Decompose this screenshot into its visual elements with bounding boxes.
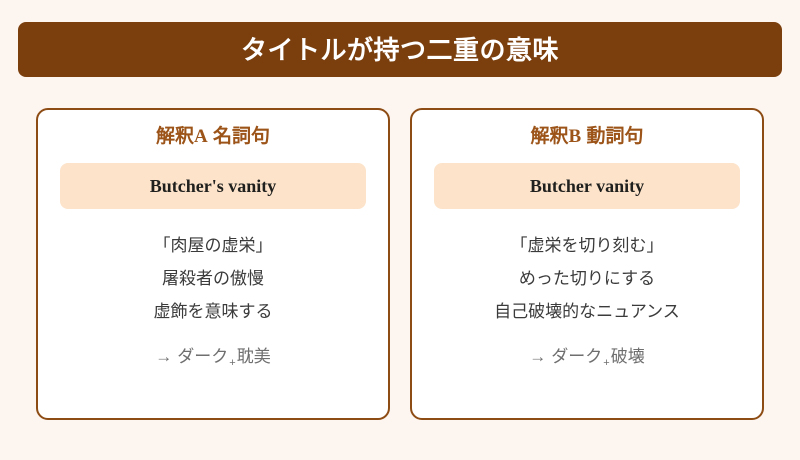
card-a-conclusion-right: 耽美 (237, 348, 271, 365)
card-a-title: 解釈A 名詞句 (156, 127, 270, 146)
arrow-right-icon: → (529, 348, 546, 365)
card-b-conclusion-right: 破壊 (611, 348, 645, 365)
card-a-title-main: 解釈 (156, 126, 194, 147)
card-b-phrase-text: Butcher vanity (530, 177, 644, 195)
slide-root: タイトルが持つ二重の意味 解釈A 名詞句 Butcher's vanity 「肉… (0, 0, 800, 460)
card-a-conclusion-left: ダーク (177, 348, 228, 365)
arrow-right-icon: → (155, 348, 172, 365)
card-b-conclusion-left: ダーク (551, 348, 602, 365)
card-a-conclusion-body: ダーク+耽美 (177, 348, 270, 365)
interpretation-card-a[interactable]: 解釈A 名詞句 Butcher's vanity 「肉屋の虚栄」 屠殺者の傲慢 … (36, 108, 390, 420)
card-b-title-letter: B (569, 126, 582, 147)
card-b-line-3: 自己破壊的なニュアンス (494, 295, 680, 328)
card-b-line-1: 「虚栄を切り刻む」 (511, 229, 664, 262)
header-banner: タイトルが持つ二重の意味 (18, 22, 782, 77)
interpretation-card-b[interactable]: 解釈B 動詞句 Butcher vanity 「虚栄を切り刻む」 めった切りにす… (410, 108, 764, 420)
card-a-line-3: 虚飾を意味する (154, 295, 273, 328)
card-a-phrase-badge: Butcher's vanity (60, 163, 366, 209)
interpretation-cards: 解釈A 名詞句 Butcher's vanity 「肉屋の虚栄」 屠殺者の傲慢 … (36, 108, 764, 420)
card-a-phrase-text: Butcher's vanity (150, 177, 277, 195)
card-b-conclusion-body: ダーク+破壊 (551, 348, 644, 365)
page-title: タイトルが持つ二重の意味 (241, 37, 559, 63)
plus-icon: + (602, 358, 610, 369)
card-b-title: 解釈B 動詞句 (531, 127, 644, 146)
card-a-line-2: 屠殺者の傲慢 (162, 262, 264, 295)
card-a-title-letter: A (194, 126, 208, 147)
card-a-meaning-list: 「肉屋の虚栄」 屠殺者の傲慢 虚飾を意味する (60, 229, 366, 328)
card-b-meaning-list: 「虚栄を切り刻む」 めった切りにする 自己破壊的なニュアンス (434, 229, 740, 328)
card-b-title-main: 解釈 (531, 126, 569, 147)
card-a-title-suffix: 名詞句 (208, 126, 270, 147)
card-b-conclusion: → ダーク+破壊 (529, 348, 644, 365)
card-b-line-2: めった切りにする (519, 262, 655, 295)
card-a-conclusion: → ダーク+耽美 (155, 348, 270, 365)
card-b-title-suffix: 動詞句 (581, 126, 643, 147)
plus-icon: + (228, 358, 236, 369)
card-b-phrase-badge: Butcher vanity (434, 163, 740, 209)
card-a-line-1: 「肉屋の虚栄」 (154, 229, 273, 262)
